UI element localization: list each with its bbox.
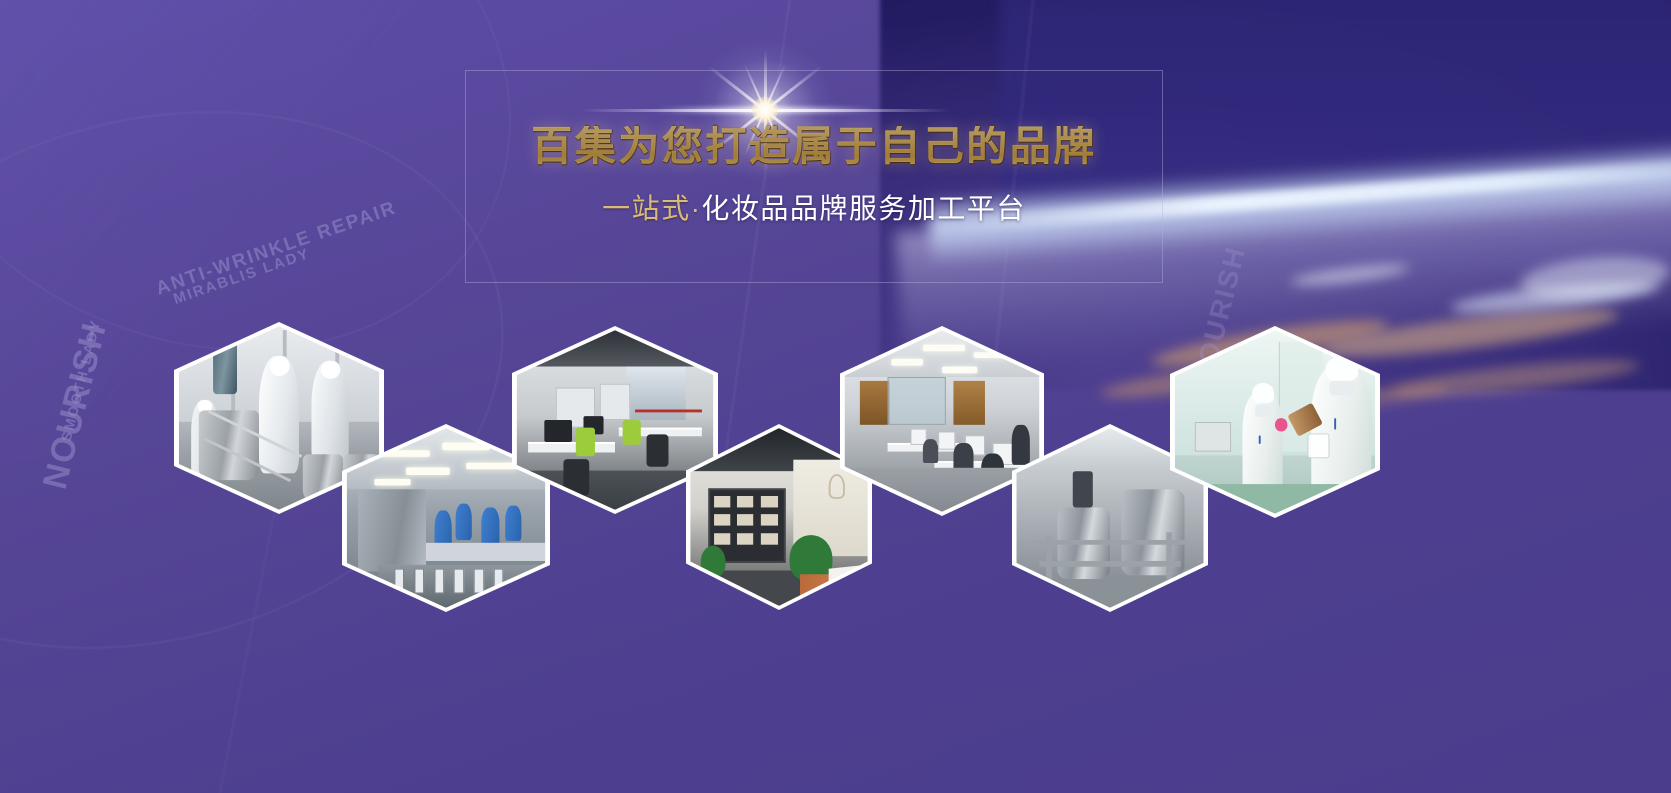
- banner-headline: 百集为您打造属于自己的品牌: [465, 126, 1163, 167]
- hero-banner: ANTI-WRINKLE REPAIR MIRABLIS LADY NOURIS…: [0, 0, 1671, 793]
- hexagon-photo-clip: [517, 330, 714, 510]
- photo-laboratory-rd: [1175, 330, 1376, 513]
- banner-subtitle-white: 化妆品品牌服务加工平台: [701, 193, 1026, 224]
- banner-subtitle: 一站式·化妆品品牌服务加工平台: [465, 192, 1163, 226]
- headline-panel: [465, 70, 1163, 283]
- banner-subtitle-gold: 一站式·: [602, 193, 701, 224]
- hexagon-photo-clip: [1175, 330, 1376, 513]
- photo-office-workstations: [517, 330, 714, 510]
- photo-open-plan-office: [845, 330, 1040, 511]
- hexagon-tile-laboratory-rd[interactable]: [1170, 326, 1380, 518]
- hexagon-photo-clip: [845, 330, 1040, 511]
